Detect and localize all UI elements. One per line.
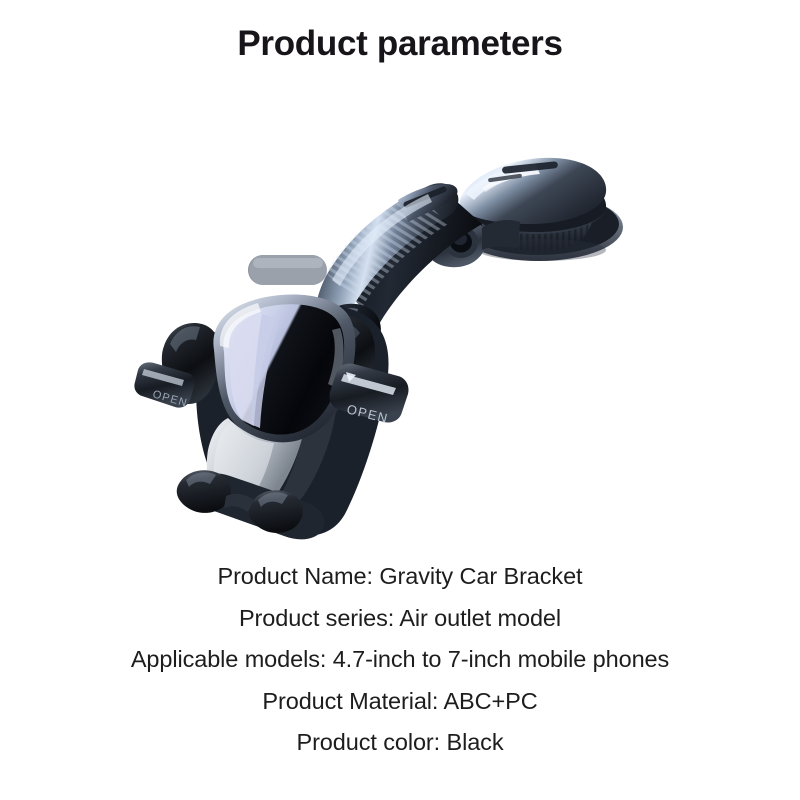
product-spec-list: Product Name: Gravity Car Bracket Produc… bbox=[0, 556, 800, 764]
product-image: OPEN OPEN bbox=[130, 88, 670, 548]
page-title: Product parameters bbox=[0, 22, 800, 66]
spec-line-product-series: Product series: Air outlet model bbox=[0, 598, 800, 640]
spec-line-product-name: Product Name: Gravity Car Bracket bbox=[0, 556, 800, 598]
spec-line-applicable-models: Applicable models: 4.7-inch to 7-inch mo… bbox=[0, 639, 800, 681]
product-parameters-page: Product parameters bbox=[0, 0, 800, 800]
spec-line-product-color: Product color: Black bbox=[0, 722, 800, 764]
spec-line-product-material: Product Material: ABC+PC bbox=[0, 681, 800, 723]
face-pill-tab bbox=[248, 255, 327, 285]
cradle-hook-left bbox=[177, 470, 231, 513]
